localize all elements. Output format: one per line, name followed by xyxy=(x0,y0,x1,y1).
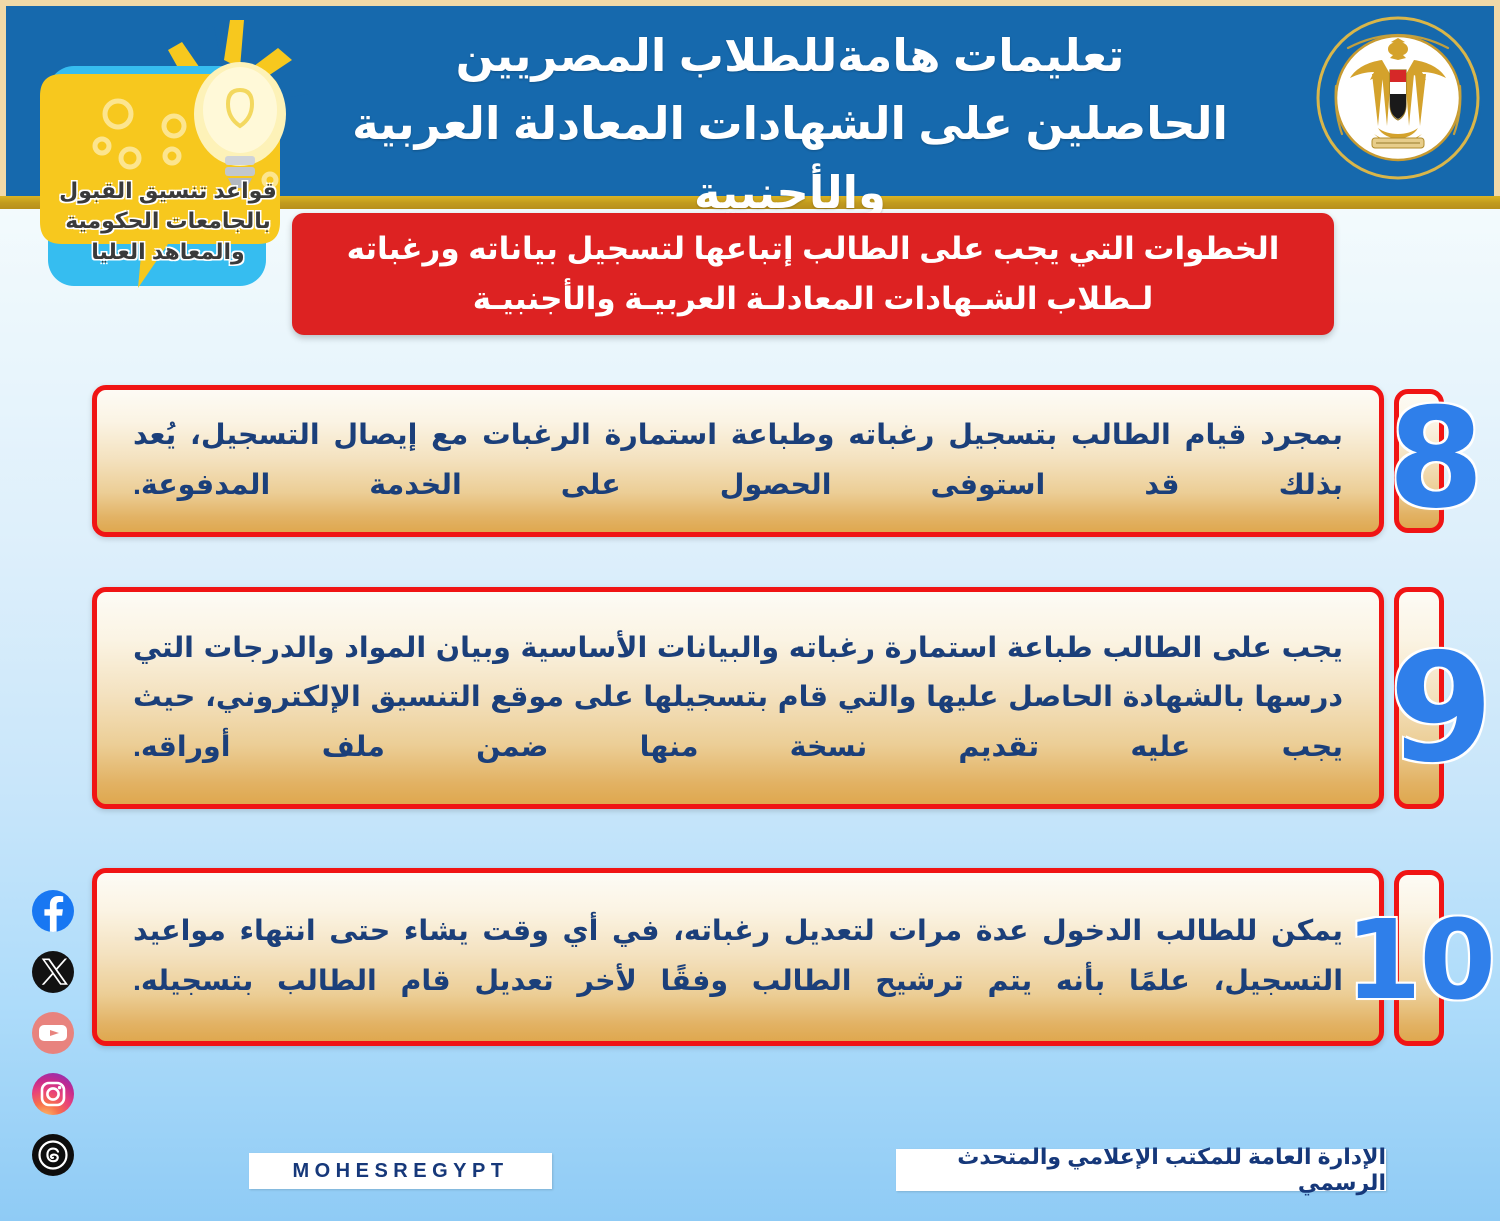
step-card: بمجرد قيام الطالب بتسجيل رغباته وطباعة ا… xyxy=(92,385,1384,537)
banner-line-1: الخطوات التي يجب على الطالب إتباعها لتسج… xyxy=(313,224,1313,274)
lightbulb-callout: قواعد تنسيق القبول بالجامعات الحكومية وا… xyxy=(22,8,322,328)
youtube-icon[interactable] xyxy=(32,1012,74,1054)
step-number: 10 xyxy=(1345,905,1494,1015)
social-links xyxy=(22,890,74,1176)
social-handle-badge: MOHESREGYPT xyxy=(249,1153,552,1189)
facebook-icon[interactable] xyxy=(32,890,74,932)
x-twitter-icon[interactable] xyxy=(32,951,74,993)
department-badge: الإدارة العامة للمكتب الإعلامي والمتحدث … xyxy=(896,1149,1386,1191)
page-title-line-2: الحاصلين على الشهادات المعادلة العربية و… xyxy=(300,90,1280,227)
logo-emblem-caption xyxy=(1372,138,1424,148)
page-title: تعليمات هامةللطلاب المصريين الحاصلين على… xyxy=(300,22,1280,227)
instructions-banner: الخطوات التي يجب على الطالب إتباعها لتسج… xyxy=(292,213,1334,335)
callout-line-2: بالجامعات الحكومية xyxy=(50,206,286,236)
instagram-icon[interactable] xyxy=(32,1073,74,1115)
callout-line-3: والمعاهد العليا xyxy=(50,237,286,267)
step-text: بمجرد قيام الطالب بتسجيل رغباته وطباعة ا… xyxy=(97,411,1379,510)
social-handle: MOHESREGYPT xyxy=(292,1160,508,1183)
ministry-logo xyxy=(1312,12,1484,184)
callout-line-1: قواعد تنسيق القبول xyxy=(50,176,286,206)
callout-text: قواعد تنسيق القبول بالجامعات الحكومية وا… xyxy=(50,176,286,267)
step-card: يمكن للطالب الدخول عدة مرات لتعديل رغبات… xyxy=(92,868,1384,1046)
step-number: 9 xyxy=(1389,634,1493,784)
banner-line-2: لـطلاب الشـهادات المعادلـة العربيـة والأ… xyxy=(313,274,1313,324)
step-text: يجب على الطالب طباعة استمارة رغباته والب… xyxy=(97,624,1379,773)
step-text: يمكن للطالب الدخول عدة مرات لتعديل رغبات… xyxy=(97,907,1379,1006)
department-name: الإدارة العامة للمكتب الإعلامي والمتحدث … xyxy=(896,1144,1386,1196)
instructions-banner-text: الخطوات التي يجب على الطالب إتباعها لتسج… xyxy=(313,224,1313,323)
threads-icon[interactable] xyxy=(32,1134,74,1176)
step-card: يجب على الطالب طباعة استمارة رغباته والب… xyxy=(92,587,1384,809)
step-number: 8 xyxy=(1388,390,1484,528)
page-title-line-1: تعليمات هامةللطلاب المصريين xyxy=(456,30,1125,81)
